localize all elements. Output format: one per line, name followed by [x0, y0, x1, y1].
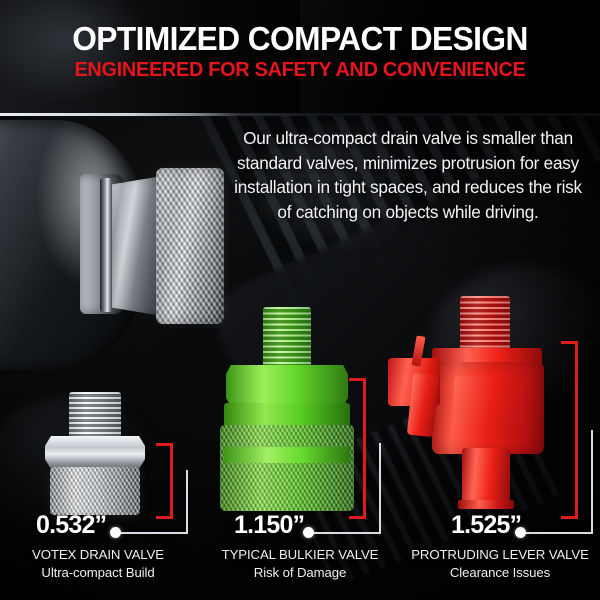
hero-valve-photo [0, 116, 238, 406]
green-valve-knurled-body [220, 425, 354, 511]
red-valve-outlet [462, 448, 510, 506]
page-title: OPTIMIZED COMPACT DESIGN [12, 22, 588, 55]
measurement-value-votex: 0.532” [36, 513, 106, 538]
promo-graphic: OPTIMIZED COMPACT DESIGN ENGINEERED FOR … [0, 0, 600, 600]
caption-typical-sub: Risk of Damage [200, 564, 400, 582]
caption-protruding-title: PROTRUDING LEVER VALVE [411, 547, 589, 562]
caption-protruding-sub: Clearance Issues [400, 564, 600, 582]
measurement-value-protruding: 1.525” [451, 513, 521, 538]
silver-valve-knurled-body [50, 467, 140, 515]
caption-votex: VOTEX DRAIN VALVE Ultra-compact Build [0, 546, 198, 581]
header-sheen [300, 0, 600, 114]
caption-typical: TYPICAL BULKIER VALVE Risk of Damage [200, 546, 400, 581]
page-subtitle: ENGINEERED FOR SAFETY AND CONVENIENCE [9, 60, 591, 81]
green-valve-shoulder [226, 365, 348, 407]
measurement-value-typical: 1.150” [234, 513, 304, 538]
caption-typical-title: TYPICAL BULKIER VALVE [222, 547, 379, 562]
red-valve-side-panel [454, 376, 520, 438]
silver-valve-thread [69, 392, 121, 438]
green-valve-grip-band [224, 447, 350, 463]
header-banner: OPTIMIZED COMPACT DESIGN ENGINEERED FOR … [0, 0, 600, 114]
sealing-ring [100, 178, 112, 312]
red-valve-thread [460, 296, 510, 352]
silver-valve-hex-flange [45, 436, 145, 469]
red-valve-outlet-lip [458, 500, 514, 509]
caption-votex-title: VOTEX DRAIN VALVE [32, 547, 164, 562]
valve-votex-drain-valve [32, 392, 162, 522]
knurled-cap [156, 168, 224, 324]
hex-nut [112, 176, 162, 316]
caption-protruding: PROTRUDING LEVER VALVE Clearance Issues [400, 546, 600, 581]
green-valve-thread [263, 307, 311, 369]
description-paragraph: Our ultra-compact drain valve is smaller… [228, 126, 588, 224]
valve-protruding-lever-valve [388, 296, 564, 516]
caption-votex-sub: Ultra-compact Build [0, 564, 198, 582]
valve-typical-bulkier-valve [218, 307, 358, 517]
